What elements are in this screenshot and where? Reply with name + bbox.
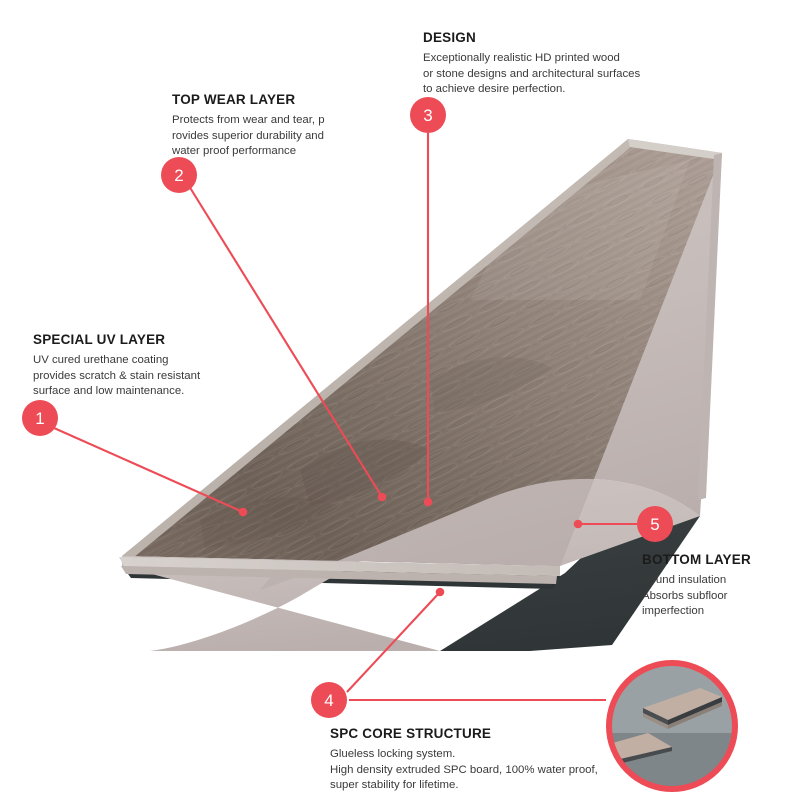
leader-dot-1 [239, 508, 248, 517]
callout-bottom-layer: BOTTOM LAYER Sound insulation Absorbs su… [642, 552, 792, 620]
callout-body: UV cured urethane coating provides scrat… [33, 353, 248, 400]
callout-marker-3[interactable]: 3 [410, 97, 446, 133]
callout-title: SPC CORE STRUCTURE [330, 726, 620, 743]
callout-marker-5[interactable]: 5 [637, 506, 673, 542]
callout-body: Glueless locking system. High density ex… [330, 747, 620, 794]
callout-body: Protects from wear and tear, p rovides s… [172, 113, 377, 160]
marker-number: 2 [174, 167, 183, 184]
callout-marker-4[interactable]: 4 [311, 682, 347, 718]
callout-title: TOP WEAR LAYER [172, 92, 377, 109]
leader-dot-5 [574, 520, 583, 529]
callout-body: Exceptionally realistic HD printed wood … [423, 51, 663, 98]
diagram-canvas: 1 2 3 4 5 SPECIAL UV LAYER UV cured uret… [0, 0, 800, 800]
callout-marker-1[interactable]: 1 [22, 400, 58, 436]
locking-system-photo [609, 663, 735, 789]
callout-spc-core-structure: SPC CORE STRUCTURE Glueless locking syst… [330, 726, 620, 794]
callout-title: DESIGN [423, 30, 663, 47]
marker-number: 3 [423, 107, 432, 124]
callout-title: BOTTOM LAYER [642, 552, 792, 569]
callout-marker-2[interactable]: 2 [161, 157, 197, 193]
leader-dot-4 [436, 588, 445, 597]
callout-top-wear-layer: TOP WEAR LAYER Protects from wear and te… [172, 92, 377, 160]
leader-line-1 [54, 428, 243, 512]
leader-dot-3 [424, 498, 433, 507]
marker-number: 5 [650, 516, 659, 533]
callout-special-uv-layer: SPECIAL UV LAYER UV cured urethane coati… [33, 332, 248, 400]
marker-number: 4 [324, 692, 333, 709]
callout-design: DESIGN Exceptionally realistic HD printe… [423, 30, 663, 98]
marker-number: 1 [35, 410, 44, 427]
callout-body: Sound insulation Absorbs subfloor imperf… [642, 573, 792, 620]
leader-dot-2 [378, 493, 387, 502]
callout-title: SPECIAL UV LAYER [33, 332, 248, 349]
